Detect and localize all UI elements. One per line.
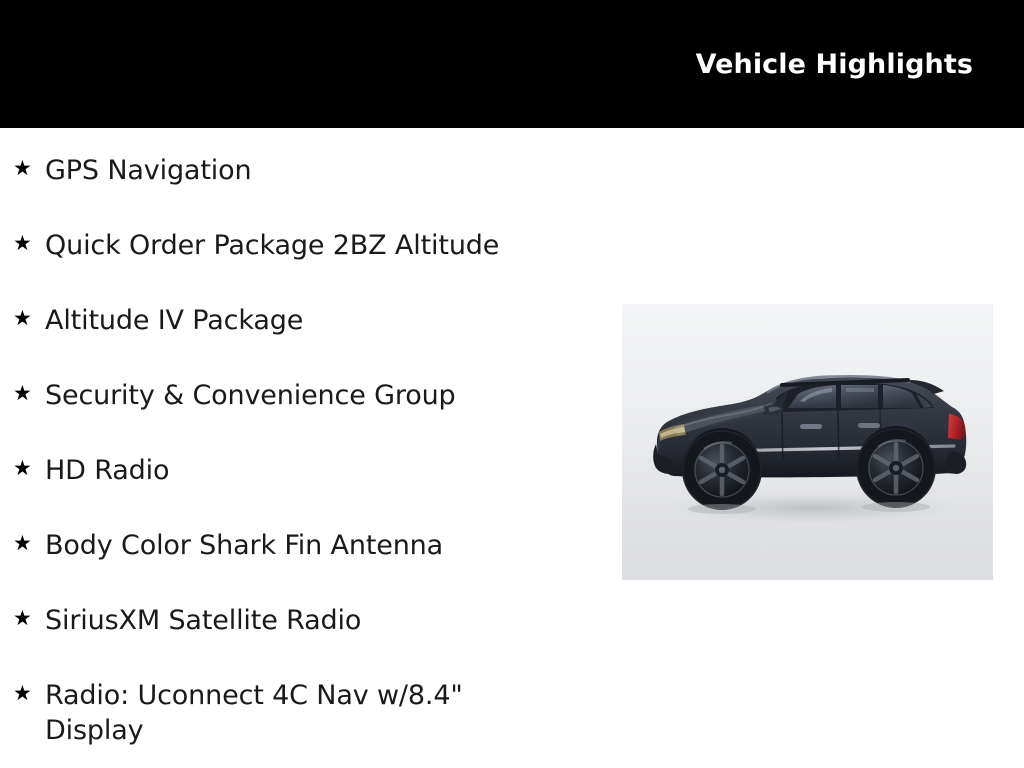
list-item-label: Altitude IV Package [45,293,600,338]
list-item: ★ Radio: Uconnect 4C Nav w/8.4" Display [0,668,600,743]
list-item-label: Security & Convenience Group [45,368,600,413]
list-item-label: Quick Order Package 2BZ Altitude [45,218,600,263]
rear-wheel [856,428,936,508]
list-item: ★ GPS Navigation [0,143,600,218]
list-item-label: GPS Navigation [45,143,600,188]
vehicle-illustration [622,304,993,580]
header-bar: Vehicle Highlights [0,0,1024,128]
star-icon: ★ [13,458,32,479]
vehicle-highlights-list: ★ GPS Navigation ★ Quick Order Package 2… [0,128,600,743]
list-item: ★ Altitude IV Package [0,293,600,368]
star-icon: ★ [13,383,32,404]
star-icon: ★ [13,683,32,704]
vehicle-highlights-page: Vehicle Highlights ★ GPS Navigation ★ Qu… [0,0,1024,768]
list-item: ★ SiriusXM Satellite Radio [0,593,600,668]
list-item: ★ HD Radio [0,443,600,518]
window-glint-2 [846,388,874,392]
list-item: ★ Body Color Shark Fin Antenna [0,518,600,593]
list-item-label: Body Color Shark Fin Antenna [45,518,600,563]
list-item-label: Radio: Uconnect 4C Nav w/8.4" Display [45,668,600,748]
door-handle-front [800,424,822,429]
list-item-label: HD Radio [45,443,600,488]
front-wheel [682,430,762,510]
page-title: Vehicle Highlights [696,51,973,78]
star-icon: ★ [13,608,32,629]
star-icon: ★ [13,308,32,329]
door-handle-rear [858,423,880,428]
star-icon: ★ [13,533,32,554]
star-icon: ★ [13,233,32,254]
list-item-label: SiriusXM Satellite Radio [45,593,600,638]
star-icon: ★ [13,158,32,179]
list-item: ★ Security & Convenience Group [0,368,600,443]
vehicle-image [622,304,993,580]
list-item: ★ Quick Order Package 2BZ Altitude [0,218,600,293]
